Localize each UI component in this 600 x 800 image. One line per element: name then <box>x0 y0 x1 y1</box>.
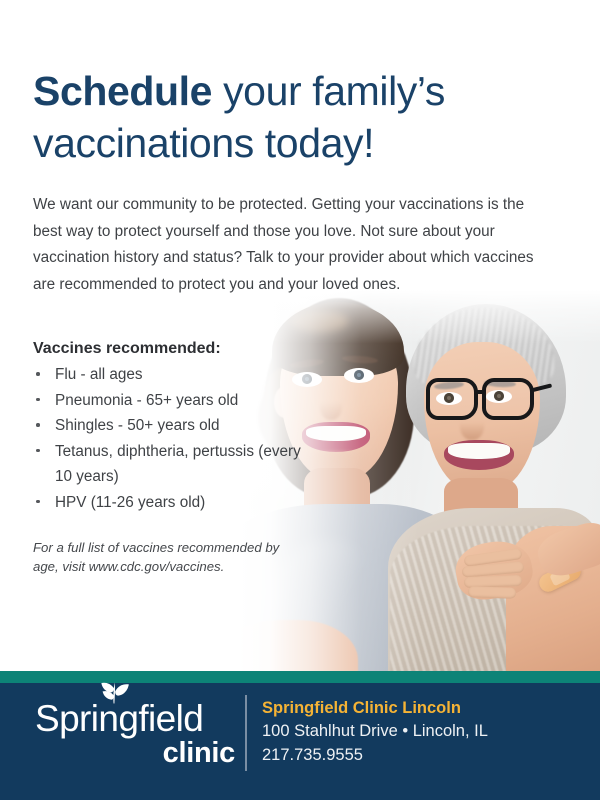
logo-subword: clinic <box>35 738 235 768</box>
leaf-sprout-icon <box>97 682 131 704</box>
bullet-icon <box>36 372 40 376</box>
list-item-label: Tetanus, diphtheria, pertussis (every 10… <box>55 443 301 486</box>
list-item: Tetanus, diphtheria, pertussis (every 10… <box>33 439 301 490</box>
footer-bar: Springfield clinic Springfield Clinic Li… <box>0 683 600 800</box>
list-item: HPV (11-26 years old) <box>33 490 301 516</box>
clinic-address: 100 Stahlhut Drive • Lincoln, IL <box>262 720 582 744</box>
cdc-footnote: For a full list of vaccines recommended … <box>33 538 283 576</box>
list-item-label: Shingles - 50+ years old <box>55 417 220 434</box>
page-title: Schedule your family’s vaccinations toda… <box>33 65 563 169</box>
bullet-icon <box>36 500 40 504</box>
springfield-clinic-logo: Springfield clinic <box>35 699 235 768</box>
footer-divider <box>245 695 247 771</box>
clinic-name: Springfield Clinic Lincoln <box>262 697 582 720</box>
headline-emphasis: Schedule <box>33 68 212 114</box>
list-item-label: Flu - all ages <box>55 366 143 383</box>
list-item: Shingles - 50+ years old <box>33 413 301 439</box>
list-item: Flu - all ages <box>33 362 301 388</box>
logo-wordmark: Springfield <box>35 699 235 738</box>
vaccines-heading: Vaccines recommended: <box>33 340 221 358</box>
intro-paragraph: We want our community to be protected. G… <box>33 192 541 298</box>
young-woman-eye-right <box>344 368 374 383</box>
young-woman-teeth <box>306 426 366 442</box>
logo-word-text: Springfield <box>35 698 203 739</box>
hand-finger <box>468 586 516 599</box>
clinic-phone[interactable]: 217.735.9555 <box>262 744 582 768</box>
teal-accent-stripe <box>0 671 600 683</box>
older-woman-smile <box>444 440 514 470</box>
list-item-label: Pneumonia - 65+ years old <box>55 392 238 409</box>
young-woman-smile <box>302 422 370 452</box>
young-woman-nose <box>320 390 342 420</box>
glasses-bridge <box>476 390 486 394</box>
list-item: Pneumonia - 65+ years old <box>33 388 301 414</box>
older-woman-nose <box>460 410 484 440</box>
bullet-icon <box>36 398 40 402</box>
list-item-label: HPV (11-26 years old) <box>55 494 205 511</box>
older-woman-teeth <box>448 443 510 459</box>
vaccines-list: Flu - all ages Pneumonia - 65+ years old… <box>33 362 301 515</box>
bullet-icon <box>36 423 40 427</box>
bullet-icon <box>36 449 40 453</box>
glasses-lens-right <box>482 378 534 420</box>
clinic-contact-info: Springfield Clinic Lincoln 100 Stahlhut … <box>262 697 582 767</box>
young-woman-hair-highlight <box>290 310 348 332</box>
vaccination-flyer: Schedule your family’s vaccinations toda… <box>0 0 600 800</box>
